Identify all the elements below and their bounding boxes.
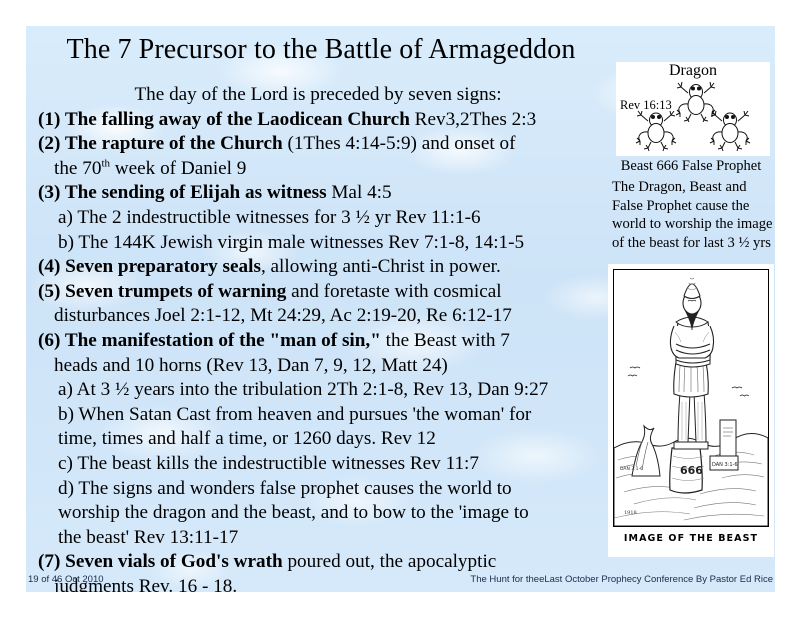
statue-base: [674, 442, 708, 449]
bullet-6-sub-b: b) When Satan Cast from heaven and pursu…: [38, 403, 616, 428]
ordinal-suffix: th: [101, 157, 110, 169]
statue-leg-left: [678, 392, 690, 442]
bullet-3-rest: Mal 4:5: [327, 182, 392, 203]
body-text-column: The day of the Lord is preceded by seven…: [38, 83, 616, 592]
bullet-6-sub-d: d) The signs and wonders false prophet c…: [38, 477, 616, 502]
bullet-6-sub-a: a) At 3 ½ years into the tribulation 2Th…: [38, 378, 616, 403]
bullet-2-rest: (1Thes 4:14-5:9) and onset of: [283, 133, 516, 154]
right-note-text: The Dragon, Beast and False Prophet caus…: [612, 178, 775, 252]
bullet-3-sub-a: a) The 2 indestructible witnesses for 3 …: [38, 206, 616, 231]
right-note-line-2: False Prophet cause the: [612, 197, 775, 216]
bullet-6-rest: the Beast with 7: [381, 330, 510, 351]
statue-arms: [670, 326, 713, 358]
bullet-6-sub-b-cont: time, times and half a time, or 1260 day…: [38, 427, 616, 452]
statue-leg-right: [694, 392, 706, 442]
bullet-3-sub-b: b) The 144K Jewish virgin male witnesses…: [38, 231, 616, 256]
pillar-icon: [720, 420, 736, 460]
page-title: The 7 Precursor to the Battle of Armaged…: [26, 34, 616, 66]
image-of-the-beast-figure: DAN 3:1-6 DAN 3:1-6 666: [608, 264, 774, 557]
left-plaque-label: DAN 3:1-6: [620, 466, 643, 472]
bullet-2-cont: the 70th week of Daniel 9: [38, 157, 616, 182]
bullet-6: (6) The manifestation of the "man of sin…: [38, 329, 616, 354]
dragon-frogs-figure: Dragon Rev 16:13: [610, 62, 772, 175]
bullet-2-cont-a: the 70: [54, 158, 101, 179]
bullet-7-bold: (7) Seven vials of God's wrath: [38, 551, 283, 572]
bullet-1-bold: (1) The falling away of the Laodicean Ch…: [38, 109, 410, 130]
plaque-label: DAN 3:1-6: [712, 462, 738, 468]
footer-conference-credit: The Hunt for theeLast October Prophecy C…: [470, 574, 773, 585]
footer-slide-number: 19 of 46 Oct 2010: [28, 574, 104, 585]
bullet-2: (2) The rapture of the Church (1Thes 4:1…: [38, 132, 616, 157]
bullet-2-cont-b: week of Daniel 9: [110, 158, 246, 179]
bullet-3: (3) The sending of Elijah as witness Mal…: [38, 181, 616, 206]
bullet-7-rest: poured out, the apocalyptic: [283, 551, 497, 572]
intro-line: The day of the Lord is preceded by seven…: [38, 83, 616, 108]
bullet-5-rest: and foretaste with cosmical: [286, 281, 501, 302]
bullet-6-sub-c: c) The beast kills the indestructible wi…: [38, 452, 616, 477]
bullet-5-cont: disturbances Joel 2:1-12, Mt 24:29, Ac 2…: [38, 304, 616, 329]
bullet-6-bold: (6) The manifestation of the "man of sin…: [38, 330, 381, 351]
bullet-1: (1) The falling away of the Laodicean Ch…: [38, 108, 616, 133]
bullet-6-sub-d-cont1: worship the dragon and the beast, and to…: [38, 501, 616, 526]
bullet-1-rest: Rev3,2Thes 2:3: [410, 109, 536, 130]
bullet-2-bold: (2) The rapture of the Church: [38, 133, 283, 154]
bullet-6-sub-d-cont2: the beast' Rev 13:11-17: [38, 526, 616, 551]
dragon-label: Dragon: [616, 62, 770, 80]
pedestal-label: 666: [680, 464, 703, 477]
bullet-3-bold: (3) The sending of Elijah as witness: [38, 182, 327, 203]
frogs-illustration: Dragon Rev 16:13: [616, 62, 770, 156]
beast-caption: IMAGE OF THE BEAST: [613, 533, 769, 544]
frog-beast-icon: [634, 110, 678, 152]
right-note-line-1: The Dragon, Beast and: [612, 178, 775, 197]
artist-signature: 1918: [624, 510, 637, 516]
frog-false-prophet-icon: [708, 110, 752, 152]
right-note-line-3: world to worship the image: [612, 215, 775, 234]
frogs-caption: Beast 666 False Prophet: [610, 158, 772, 175]
bullet-6-cont: heads and 10 horns (Rev 13, Dan 7, 9, 12…: [38, 354, 616, 379]
right-note-line-4: of the beast for last 3 ½ yrs: [612, 234, 775, 253]
slide-footer: 19 of 46 Oct 2010 The Hunt for theeLast …: [26, 572, 775, 588]
bullet-5-bold: (5) Seven trumpets of warning: [38, 281, 286, 302]
beast-statue-drawing: DAN 3:1-6 DAN 3:1-6 666: [614, 270, 768, 526]
slide-canvas: The 7 Precursor to the Battle of Armaged…: [26, 26, 775, 592]
bullet-5: (5) Seven trumpets of warning and foreta…: [38, 280, 616, 305]
bullet-4-bold: (4) Seven preparatory seals: [38, 256, 261, 277]
beast-illustration: DAN 3:1-6 DAN 3:1-6 666: [613, 269, 769, 527]
bullet-4: (4) Seven preparatory seals, allowing an…: [38, 255, 616, 280]
bullet-4-rest: , allowing anti-Christ in power.: [261, 256, 501, 277]
